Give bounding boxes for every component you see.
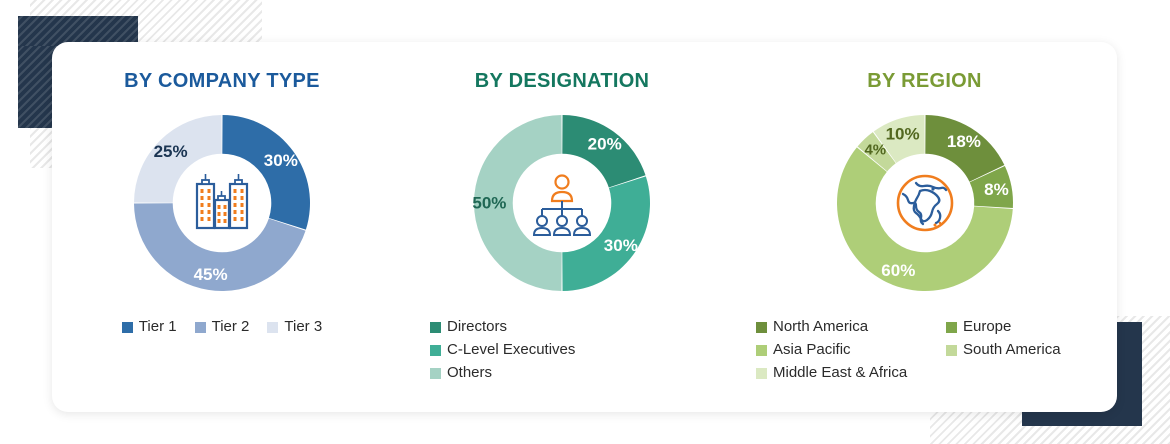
legend-swatch-icon: [430, 345, 441, 356]
donut-slice-value-label: 30%: [604, 236, 638, 255]
legend-swatch-icon: [756, 322, 767, 333]
donut-slice-value-label: 50%: [472, 194, 506, 213]
legend-label: C-Level Executives: [447, 340, 575, 360]
donut-slice-value-label: 60%: [881, 261, 915, 280]
legend-label: Others: [447, 363, 492, 383]
legend-label: Europe: [963, 317, 1011, 337]
legend-label: Tier 1: [139, 317, 177, 337]
legend-label: Middle East & Africa: [773, 363, 907, 383]
panels-row: BY COMPANY TYPE 30%45%25%: [52, 42, 1117, 412]
donut-slice-value-label: 45%: [194, 265, 228, 284]
legend-label: Asia Pacific: [773, 340, 851, 360]
legend-swatch-icon: [946, 345, 957, 356]
legend-swatch-icon: [195, 322, 206, 333]
infographic-canvas: BY COMPANY TYPE 30%45%25%: [0, 0, 1170, 444]
legend-company-type: Tier 1Tier 2Tier 3: [52, 317, 392, 337]
legend-label: Directors: [447, 317, 507, 337]
globe-icon: [886, 164, 964, 242]
legend-region-item[interactable]: Europe: [946, 317, 1116, 337]
panel-company-type: BY COMPANY TYPE 30%45%25%: [52, 42, 392, 412]
legend-label: Tier 3: [284, 317, 322, 337]
legend-region-item[interactable]: North America: [756, 317, 946, 337]
legend-region: North AmericaEuropeAsia PacificSouth Ame…: [732, 317, 1117, 383]
donut-slice-value-label: 20%: [588, 135, 622, 154]
panel-title-region: BY REGION: [732, 70, 1117, 93]
legend-designation-item[interactable]: Directors: [430, 317, 732, 337]
legend-swatch-icon: [267, 322, 278, 333]
legend-company-item[interactable]: Tier 1: [122, 317, 177, 337]
org-chart-icon: [523, 164, 601, 242]
content-card: BY COMPANY TYPE 30%45%25%: [52, 42, 1117, 412]
legend-region-item[interactable]: Asia Pacific: [756, 340, 946, 360]
legend-swatch-icon: [430, 322, 441, 333]
donut-slice-value-label: 30%: [264, 151, 298, 170]
panel-title-designation: BY DESIGNATION: [392, 70, 732, 93]
legend-label: North America: [773, 317, 868, 337]
donut-slice-value-label: 18%: [946, 132, 980, 151]
donut-slice-value-label: 10%: [885, 124, 919, 143]
buildings-icon: [183, 164, 261, 242]
legend-swatch-icon: [756, 345, 767, 356]
legend-company-item[interactable]: Tier 2: [195, 317, 250, 337]
legend-region-item[interactable]: South America: [946, 340, 1116, 360]
donut-chart-company-type: 30%45%25%: [122, 103, 322, 303]
legend-swatch-icon: [946, 322, 957, 333]
legend-swatch-icon: [756, 368, 767, 379]
panel-designation: BY DESIGNATION 20%30%50%: [392, 42, 732, 412]
legend-swatch-icon: [122, 322, 133, 333]
legend-swatch-icon: [430, 368, 441, 379]
legend-designation: DirectorsC-Level ExecutivesOthers: [392, 317, 732, 383]
legend-company-item[interactable]: Tier 3: [267, 317, 322, 337]
donut-slice-value-label: 8%: [984, 180, 1009, 199]
legend-region-item[interactable]: Middle East & Africa: [756, 363, 946, 383]
legend-designation-item[interactable]: C-Level Executives: [430, 340, 732, 360]
legend-designation-item[interactable]: Others: [430, 363, 732, 383]
donut-chart-designation: 20%30%50%: [462, 103, 662, 303]
legend-label: Tier 2: [212, 317, 250, 337]
donut-slice-value-label: 4%: [864, 142, 886, 159]
donut-chart-region: 18%8%60%4%10%: [825, 103, 1025, 303]
legend-label: South America: [963, 340, 1061, 360]
panel-title-company-type: BY COMPANY TYPE: [52, 70, 392, 93]
donut-slice-value-label: 25%: [154, 142, 188, 161]
panel-region: BY REGION 18%8%60%4%10%: [732, 42, 1117, 412]
